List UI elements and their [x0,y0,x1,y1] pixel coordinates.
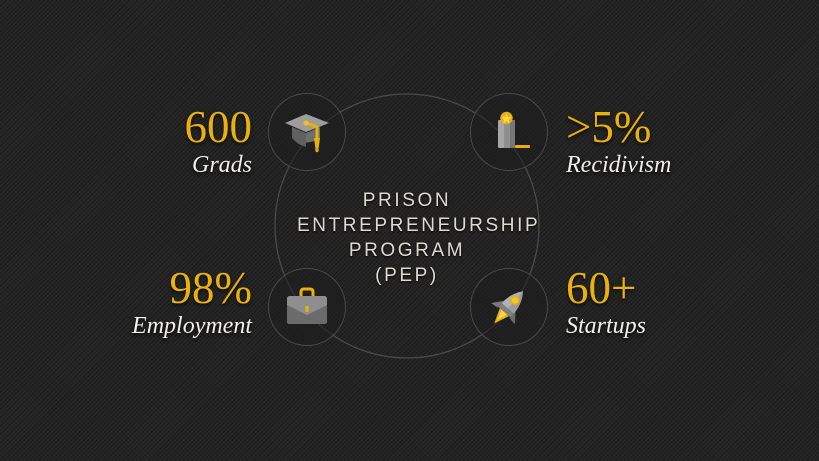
infographic-canvas: PRISON ENTREPRENEURSHIP PROGRAM (PEP) 60… [0,0,819,461]
stat-recidivism: >5% Recidivism [566,104,806,180]
center-title: PRISON ENTREPRENEURSHIP PROGRAM (PEP) [297,188,517,288]
center-title-line-1: PRISON [297,188,517,213]
center-title-line-3: PROGRAM [297,238,517,263]
stat-employment-label: Employment [20,311,252,341]
graduation-cap-icon [281,109,333,155]
briefcase-icon [281,285,333,329]
stat-grads-label: Grads [20,150,252,180]
stat-recidivism-label: Recidivism [566,150,806,180]
stat-grads: 600 Grads [20,104,252,180]
stat-recidivism-value: >5% [566,104,806,150]
stat-grads-value: 600 [20,104,252,150]
center-title-line-4: (PEP) [297,263,517,288]
stat-startups-label: Startups [566,311,806,341]
stat-employment-value: 98% [20,265,252,311]
node-recidivism[interactable] [470,93,548,171]
prison-badge-icon [485,108,533,156]
stat-startups: 60+ Startups [566,265,806,341]
center-title-line-2: ENTREPRENEURSHIP [297,213,517,238]
rocket-icon [484,282,534,332]
stat-startups-value: 60+ [566,265,806,311]
node-grads[interactable] [268,93,346,171]
stat-employment: 98% Employment [20,265,252,341]
